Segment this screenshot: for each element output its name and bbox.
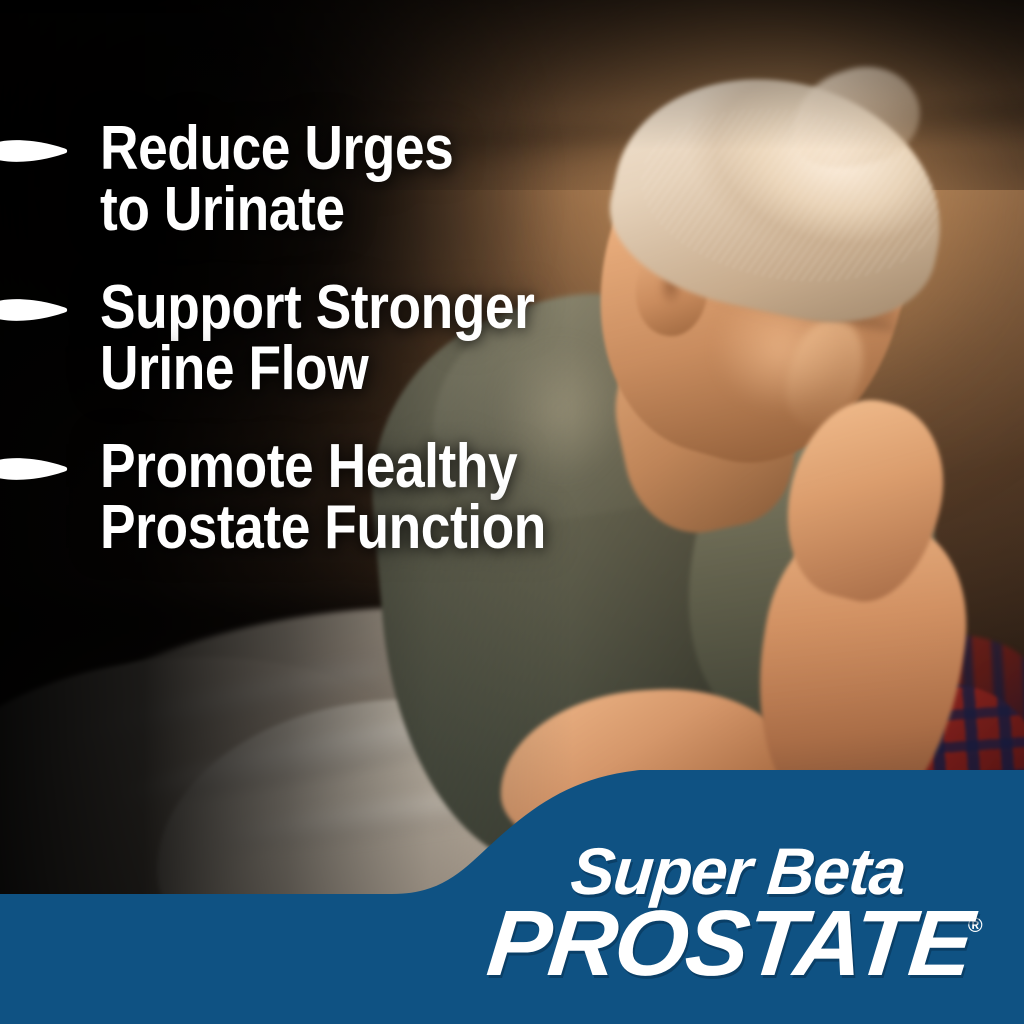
tapered-ellipse-bullet-icon [0,138,68,164]
benefit-label: Support Stronger Urine Flow [100,277,534,400]
tapered-ellipse-bullet-icon [0,297,68,323]
brand-name-prostate-row: PROSTATE ® [478,902,998,986]
brand-logo: Super Beta PROSTATE ® [478,840,998,986]
advertisement-canvas: Reduce Urges to Urinate Support Stronger… [0,0,1024,1024]
benefit-label: Reduce Urges to Urinate [100,118,453,241]
bullet-slot [0,118,100,164]
brand-name-prostate: PROSTATE [484,902,975,986]
benefit-list: Reduce Urges to Urinate Support Stronger… [0,118,720,594]
benefit-item-healthy-prostate: Promote Healthy Prostate Function [0,436,720,559]
benefit-item-reduce-urges: Reduce Urges to Urinate [0,118,720,241]
benefit-item-stronger-flow: Support Stronger Urine Flow [0,277,720,400]
tapered-ellipse-bullet-icon [0,456,68,482]
bullet-slot [0,277,100,323]
bullet-slot [0,436,100,482]
benefit-label: Promote Healthy Prostate Function [100,436,546,559]
